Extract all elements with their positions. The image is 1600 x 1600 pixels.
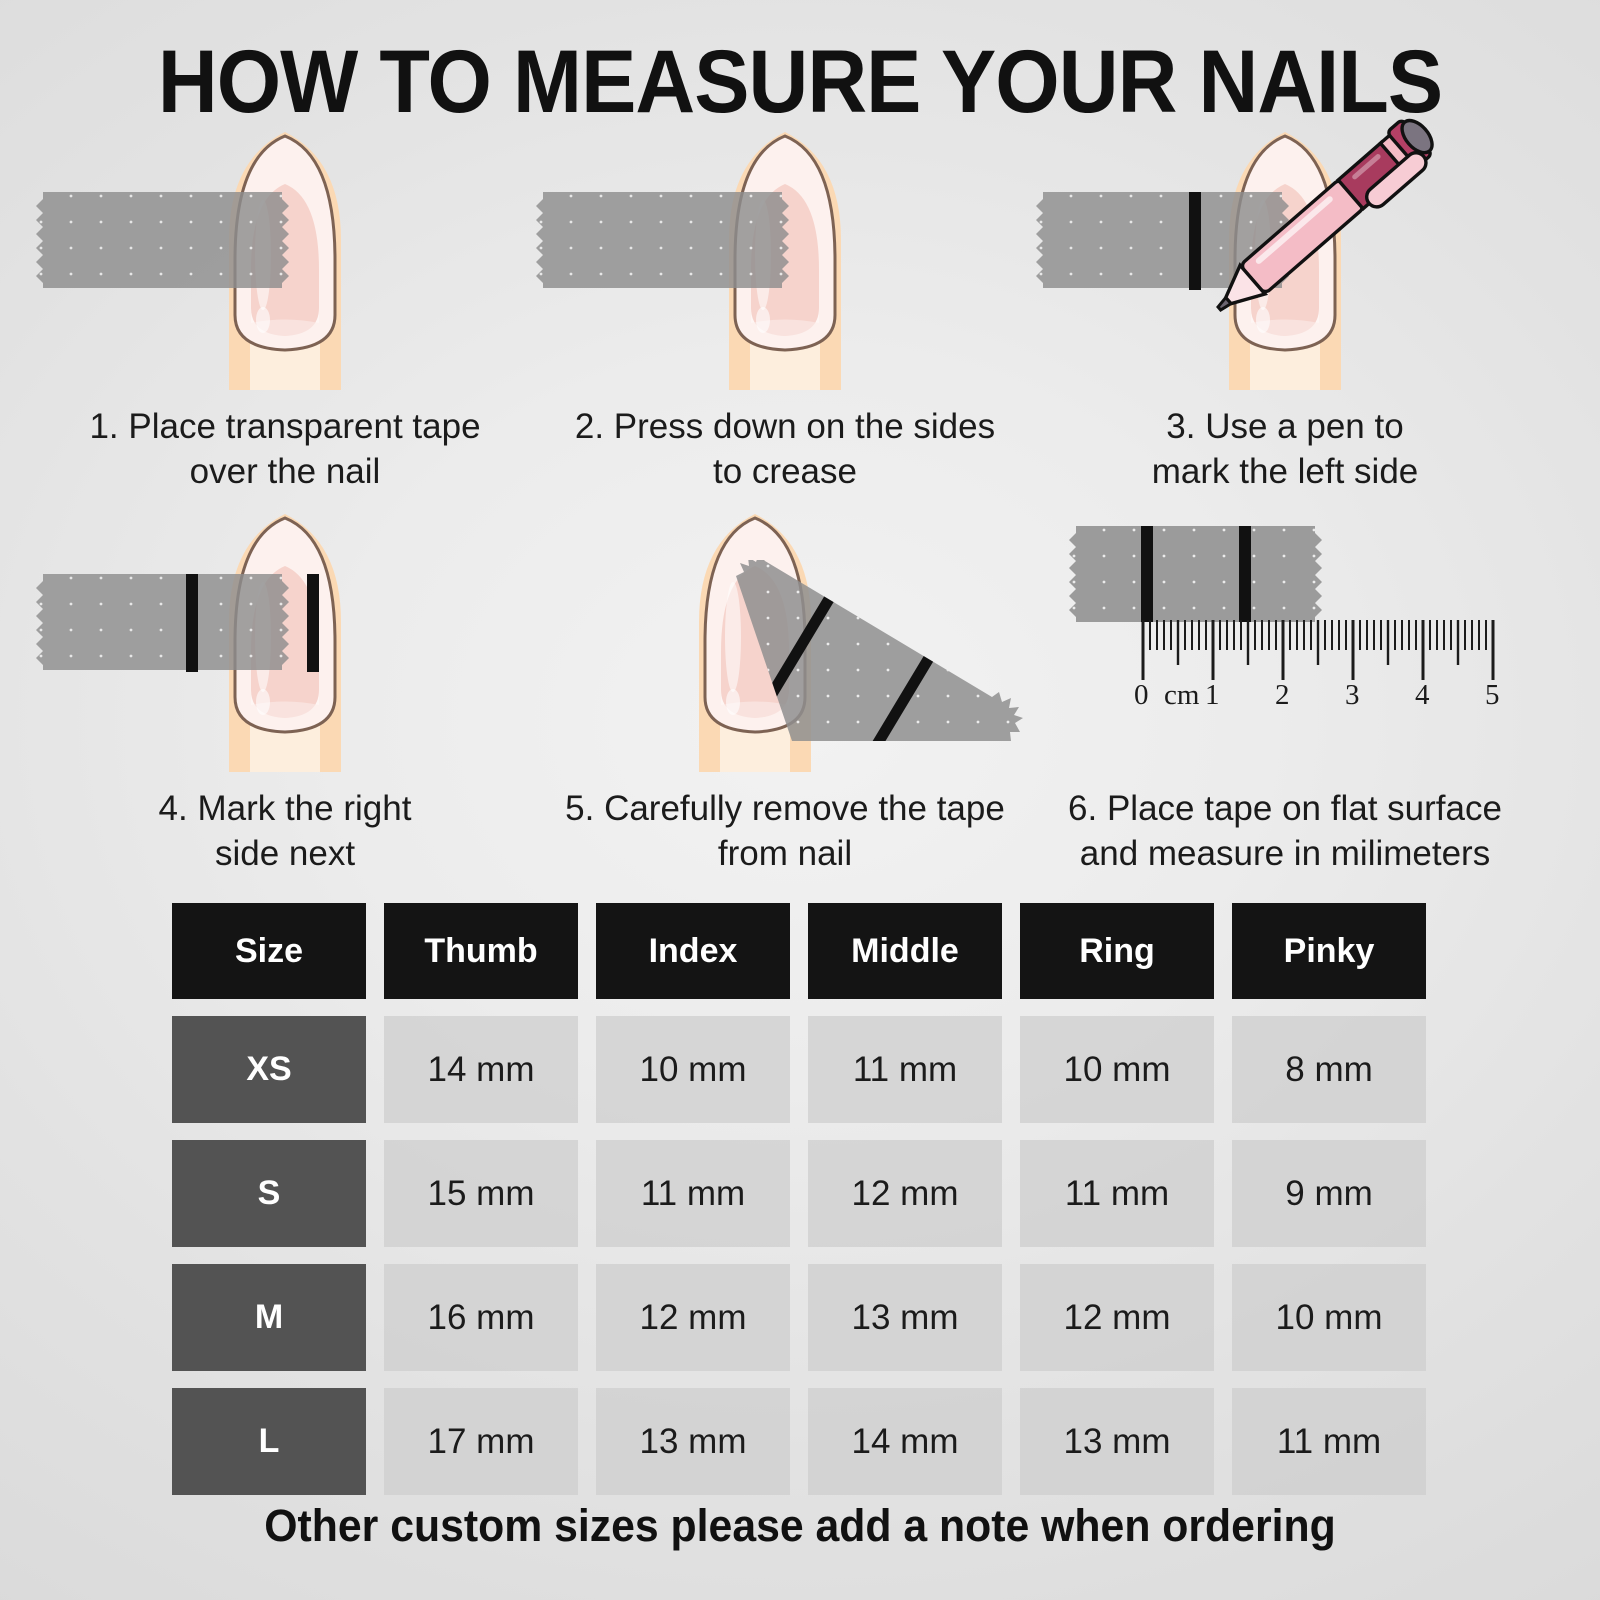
ruler-tick-3: 3 [1345,679,1360,712]
tape-strip-flat [1068,524,1323,624]
column-header-pinky: Pinky [1232,903,1426,999]
step-1-illustration [20,120,550,390]
cell-xs-ring: 10 mm [1020,1016,1214,1123]
column-header-middle: Middle [808,903,1002,999]
size-label-s: S [172,1140,366,1247]
step-1-caption-line1: 1. Place transparent tape [20,405,550,450]
cell-xs-middle: 11 mm [808,1016,1002,1123]
cell-l-middle: 14 mm [808,1388,1002,1495]
step-1: 1. Place transparent tape over the nail [20,120,550,390]
table-row: L 17 mm 13 mm 14 mm 13 mm 11 mm [172,1388,1440,1495]
cell-m-pinky: 10 mm [1232,1264,1426,1371]
step-6-caption: 6. Place tape on flat surface and measur… [1005,787,1565,877]
column-header-index: Index [596,903,790,999]
infographic-page: HOW TO MEASURE YOUR NAILS [0,0,1600,1600]
step-5-caption-line2: from nail [520,832,1050,877]
cell-xs-thumb: 14 mm [384,1016,578,1123]
step-4: 4. Mark the right side next [20,502,550,772]
cell-xs-pinky: 8 mm [1232,1016,1426,1123]
step-4-caption-line1: 4. Mark the right [20,787,550,832]
finger-illustration [695,120,875,390]
step-2: 2. Press down on the sides to crease [520,120,1050,390]
pen-mark-left [186,574,198,672]
step-5-illustration [520,502,1050,772]
step-1-caption: 1. Place transparent tape over the nail [20,405,550,495]
step-3-caption-line2: mark the left side [1020,450,1550,495]
footer-note: Other custom sizes please add a note whe… [40,1500,1560,1552]
column-header-thumb: Thumb [384,903,578,999]
column-header-size: Size [172,903,366,999]
ruler-ticks [1143,620,1493,680]
cell-s-middle: 12 mm [808,1140,1002,1247]
cell-s-pinky: 9 mm [1232,1140,1426,1247]
step-1-caption-line2: over the nail [20,450,550,495]
step-5-caption: 5. Carefully remove the tape from nail [520,787,1050,877]
column-header-ring: Ring [1020,903,1214,999]
step-3-illustration [1020,120,1550,390]
table-row: S 15 mm 11 mm 12 mm 11 mm 9 mm [172,1140,1440,1247]
table-header-row: Size Thumb Index Middle Ring Pinky [172,903,1440,999]
cell-xs-index: 10 mm [596,1016,790,1123]
cell-m-thumb: 16 mm [384,1264,578,1371]
finger-illustration [665,502,845,772]
cell-l-ring: 13 mm [1020,1388,1214,1495]
step-2-caption: 2. Press down on the sides to crease [520,405,1050,495]
cell-m-index: 12 mm [596,1264,790,1371]
pen-icon [1190,117,1450,322]
cell-m-ring: 12 mm [1020,1264,1214,1371]
table-row: M 16 mm 12 mm 13 mm 12 mm 10 mm [172,1264,1440,1371]
size-chart-table: Size Thumb Index Middle Ring Pinky XS 14… [172,903,1440,1512]
cell-l-pinky: 11 mm [1232,1388,1426,1495]
step-6-caption-line2: and measure in milimeters [1005,832,1565,877]
pen-mark-right [307,574,319,672]
step-2-caption-line2: to crease [520,450,1050,495]
table-row: XS 14 mm 10 mm 11 mm 10 mm 8 mm [172,1016,1440,1123]
ruler-tick-1: 1 [1205,679,1220,712]
step-6-caption-line1: 6. Place tape on flat surface [1005,787,1565,832]
ruler-tick-4: 4 [1415,679,1430,712]
step-6-illustration: 0 cm 1 2 3 4 5 [1020,502,1550,772]
cell-l-thumb: 17 mm [384,1388,578,1495]
step-2-caption-line1: 2. Press down on the sides [520,405,1050,450]
size-label-m: M [172,1264,366,1371]
cell-l-index: 13 mm [596,1388,790,1495]
size-label-xs: XS [172,1016,366,1123]
step-3-caption: 3. Use a pen to mark the left side [1020,405,1550,495]
ruler-tick-0: 0 [1134,679,1149,712]
step-2-illustration [520,120,1050,390]
cell-s-ring: 11 mm [1020,1140,1214,1247]
step-5: 5. Carefully remove the tape from nail [520,502,1050,772]
step-4-caption: 4. Mark the right side next [20,787,550,877]
ruler-unit-label: cm [1164,679,1199,712]
finger-illustration [195,502,375,772]
ruler-tick-5: 5 [1485,679,1500,712]
size-label-l: L [172,1388,366,1495]
step-6: 0 cm 1 2 3 4 5 6. Place tape on flat sur… [1020,502,1550,772]
ruler-tick-2: 2 [1275,679,1290,712]
step-3: 3. Use a pen to mark the left side [1020,120,1550,390]
step-5-caption-line1: 5. Carefully remove the tape [520,787,1050,832]
cell-m-middle: 13 mm [808,1264,1002,1371]
step-4-illustration [20,502,550,772]
step-4-caption-line2: side next [20,832,550,877]
cell-s-index: 11 mm [596,1140,790,1247]
cell-s-thumb: 15 mm [384,1140,578,1247]
finger-illustration [195,120,375,390]
step-3-caption-line1: 3. Use a pen to [1020,405,1550,450]
